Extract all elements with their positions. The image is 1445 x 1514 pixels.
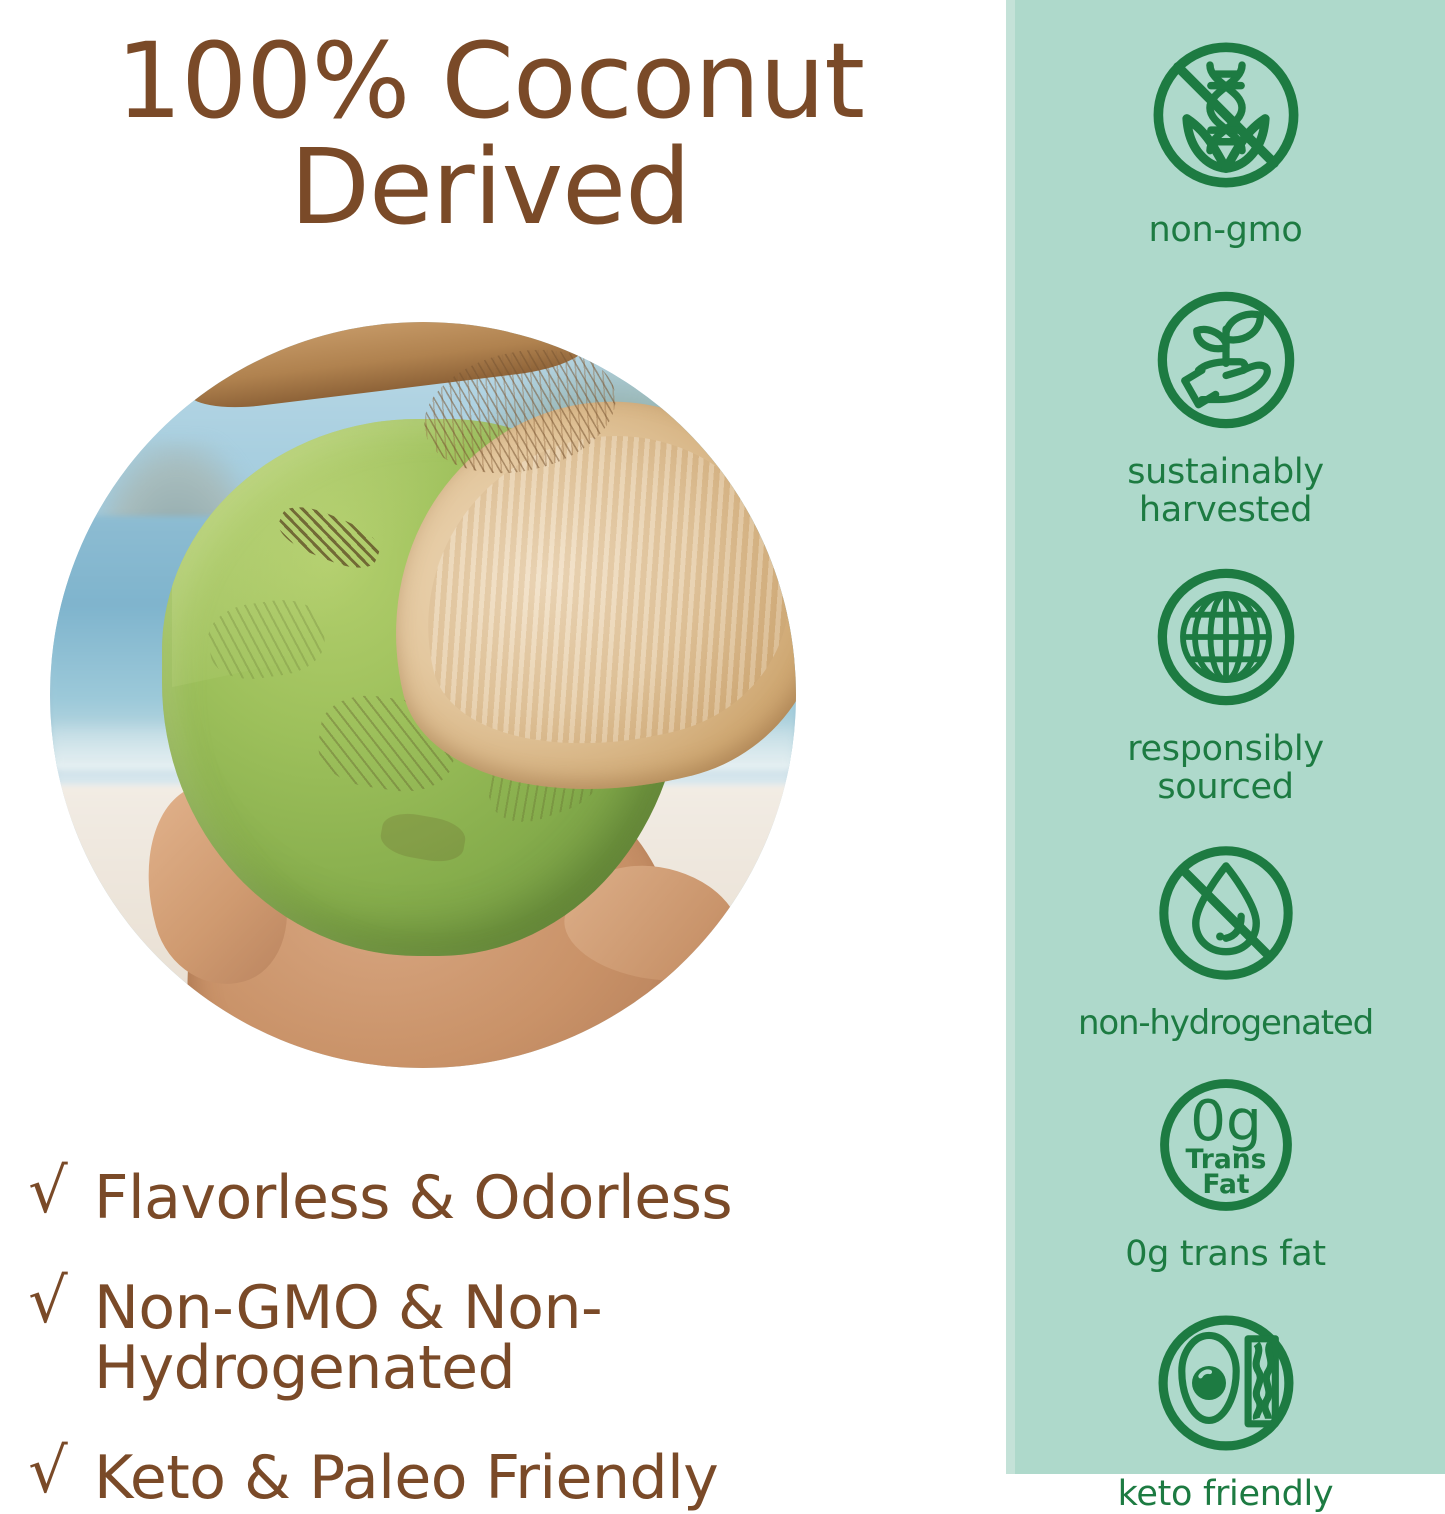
check-icon: √ (22, 1270, 74, 1332)
product-infographic: 100% Coconut Derived (0, 0, 1445, 1474)
checklist-item-keto-paleo: √ Keto & Paleo Friendly (22, 1440, 1002, 1508)
badge-non-gmo: non-gmo (1006, 26, 1445, 250)
badge-zero-trans-fat: 0g Trans Fat 0g trans fat (1006, 1062, 1445, 1274)
coconut-photo-scene (50, 322, 796, 1068)
badge-non-hydrogenated: non-hydrogenated (1006, 829, 1445, 1042)
zero-g-trans-fat-badge-icon: 0g Trans Fat (1143, 1062, 1309, 1228)
badge-responsibly-sourced: responsibly sourced (1006, 551, 1445, 807)
check-icon: √ (22, 1160, 74, 1222)
badge-sustainably-harvested: sustainably harvested (1006, 274, 1445, 530)
checklist-item-flavorless: √ Flavorless & Odorless (22, 1160, 1002, 1228)
benefits-checklist: √ Flavorless & Odorless √ Non-GMO & Non-… (22, 1160, 1002, 1508)
no-water-droplet-icon (1142, 829, 1310, 997)
badge-label: non-hydrogenated (1078, 1005, 1373, 1042)
coconut-blemish (378, 809, 468, 866)
badge-keto-friendly: keto friendly (1006, 1298, 1445, 1514)
hand-holding-sprout-icon (1140, 274, 1312, 446)
certification-badges-panel: non-gmo sustaina (1006, 0, 1445, 1474)
page-title: 100% Coconut Derived (0, 28, 980, 240)
checklist-item-label: Keto & Paleo Friendly (94, 1440, 718, 1508)
badge-label: sustainably harvested (1127, 454, 1324, 530)
badge-label: keto friendly (1118, 1476, 1334, 1514)
checklist-item-non-gmo: √ Non-GMO & Non-Hydrogenated (22, 1270, 1002, 1398)
checklist-item-label: Non-GMO & Non-Hydrogenated (94, 1270, 1002, 1398)
avocado-bacon-icon (1141, 1298, 1311, 1468)
badge-label: non-gmo (1148, 212, 1302, 250)
badge-label: responsibly sourced (1127, 731, 1324, 807)
badge-label: 0g trans fat (1125, 1236, 1326, 1274)
trans-fat-line2: Fat (1202, 1169, 1249, 1200)
checklist-item-label: Flavorless & Odorless (94, 1160, 732, 1228)
left-content-panel: 100% Coconut Derived (0, 0, 1006, 1474)
coconut-photo (50, 322, 796, 1068)
check-icon: √ (22, 1440, 74, 1502)
non-gmo-dna-leaf-icon (1137, 26, 1315, 204)
globe-grid-icon (1140, 551, 1312, 723)
